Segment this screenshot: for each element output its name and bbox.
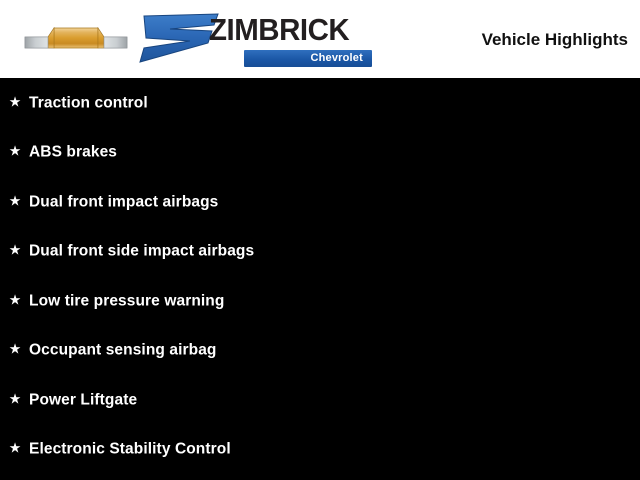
star-icon: ★ xyxy=(8,442,22,456)
highlight-label: Traction control xyxy=(29,93,148,112)
list-item: ★ Occupant sensing airbag xyxy=(0,326,640,376)
list-item: ★ Power Liftgate xyxy=(0,375,640,425)
vehicle-highlights-page: ZIMBRICK Chevrolet Vehicle Highlights ★ … xyxy=(0,0,640,480)
list-item: ★ Electronic Stability Control xyxy=(0,425,640,475)
highlight-label: Electronic Stability Control xyxy=(29,440,231,459)
star-icon: ★ xyxy=(8,194,22,208)
star-icon: ★ xyxy=(8,95,22,109)
page-header: ZIMBRICK Chevrolet Vehicle Highlights xyxy=(0,0,640,78)
star-icon: ★ xyxy=(8,145,22,159)
vehicle-highlights-panel: ★ Traction control ★ ABS brakes ★ Dual f… xyxy=(0,78,640,480)
list-item: ★ Low tire pressure warning xyxy=(0,276,640,326)
zimbrick-wordmark: ZIMBRICK xyxy=(209,13,349,47)
star-icon: ★ xyxy=(8,293,22,307)
highlight-label: Dual front side impact airbags xyxy=(29,242,254,261)
highlight-label: ABS brakes xyxy=(29,143,117,162)
vehicle-highlights-list: ★ Traction control ★ ABS brakes ★ Dual f… xyxy=(0,78,640,474)
chevrolet-bowtie-icon xyxy=(24,22,128,56)
chevrolet-subbrand-label: Chevrolet xyxy=(310,52,363,65)
chevrolet-subbrand-bar: Chevrolet xyxy=(244,50,372,67)
zimbrick-logo: ZIMBRICK Chevrolet xyxy=(134,10,372,68)
highlight-label: Dual front impact airbags xyxy=(29,192,218,211)
list-item: ★ Traction control xyxy=(0,78,640,128)
list-item: ★ Dual front impact airbags xyxy=(0,177,640,227)
highlight-label: Power Liftgate xyxy=(29,390,137,409)
star-icon: ★ xyxy=(8,392,22,406)
highlight-label: Low tire pressure warning xyxy=(29,291,224,310)
star-icon: ★ xyxy=(8,343,22,357)
star-icon: ★ xyxy=(8,244,22,258)
list-item: ★ Dual front side impact airbags xyxy=(0,227,640,277)
page-title: Vehicle Highlights xyxy=(482,30,628,50)
list-item: ★ ABS brakes xyxy=(0,128,640,178)
highlight-label: Occupant sensing airbag xyxy=(29,341,216,360)
